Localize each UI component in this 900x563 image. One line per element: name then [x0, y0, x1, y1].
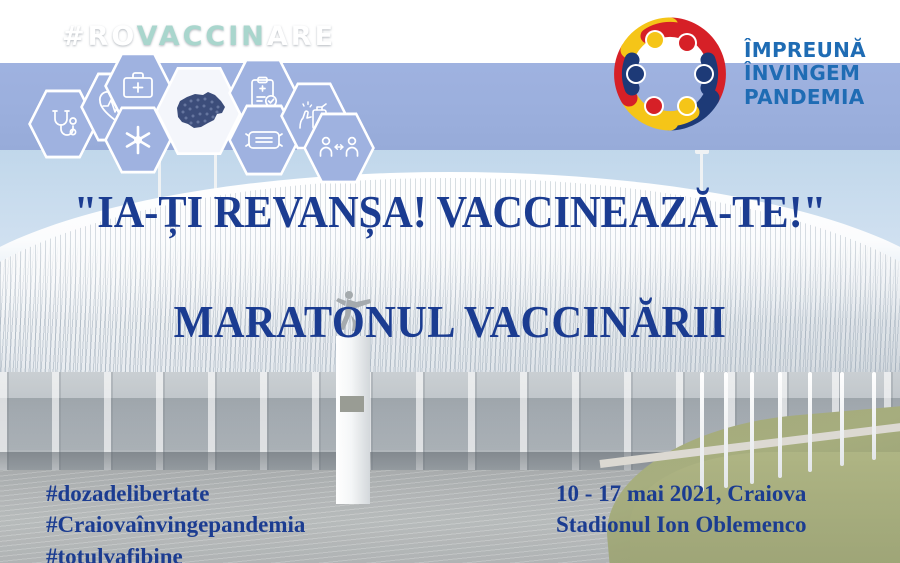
logo-line-2: ÎNVINGEM [744, 62, 866, 86]
star-of-life-icon [122, 124, 154, 156]
unity-circle-logo-icon [608, 12, 732, 136]
hashtag-item: #totulvafibine [46, 541, 305, 563]
wordmark-prefix: #RO [62, 21, 137, 52]
event-dates-location: 10 - 17 mai 2021, Craiova [556, 478, 807, 509]
flagpole [808, 372, 812, 472]
event-venue: Stadionul Ion Oblemenco [556, 509, 807, 540]
logo-line-3: PANDEMIA [744, 86, 866, 110]
flagpole [872, 372, 876, 460]
logo-text-block: ÎMPREUNĂ ÎNVINGEM PANDEMIA [744, 39, 866, 110]
flagpole [700, 372, 704, 492]
vaccination-campaign-poster: #ROVACCINARE [0, 0, 900, 563]
headline-secondary: MARATONUL VACCINĂRII [36, 295, 864, 348]
wordmark-highlight: VACCIN [137, 21, 267, 52]
campaign-logo: ÎMPREUNĂ ÎNVINGEM PANDEMIA [608, 12, 866, 136]
romania-map-icon [170, 89, 228, 133]
flagpole [750, 372, 754, 484]
monument-plaque [340, 396, 364, 412]
headline-primary: "IA-ȚI REVANȘA! VACCINEAZĂ-TE!" [36, 185, 864, 238]
event-details: 10 - 17 mai 2021, Craiova Stadionul Ion … [556, 478, 807, 541]
hashtag-item: #dozadelibertate [46, 478, 305, 509]
stethoscope-icon [46, 107, 80, 141]
rovaccinare-wordmark: #ROVACCINARE [62, 21, 336, 52]
hashtag-list: #dozadelibertate #Craiovaînvingepandemia… [46, 478, 305, 563]
first-aid-kit-icon [121, 71, 155, 101]
flagpole [840, 372, 844, 466]
wordmark-suffix: ARE [267, 21, 336, 52]
monument-column [336, 336, 370, 504]
social-distancing-icon [319, 134, 359, 162]
flagpole [778, 372, 782, 478]
hashtag-item: #Craiovaînvingepandemia [46, 509, 305, 540]
flagpole [724, 372, 728, 488]
logo-line-1: ÎMPREUNĂ [744, 39, 866, 63]
face-mask-icon [245, 126, 283, 154]
